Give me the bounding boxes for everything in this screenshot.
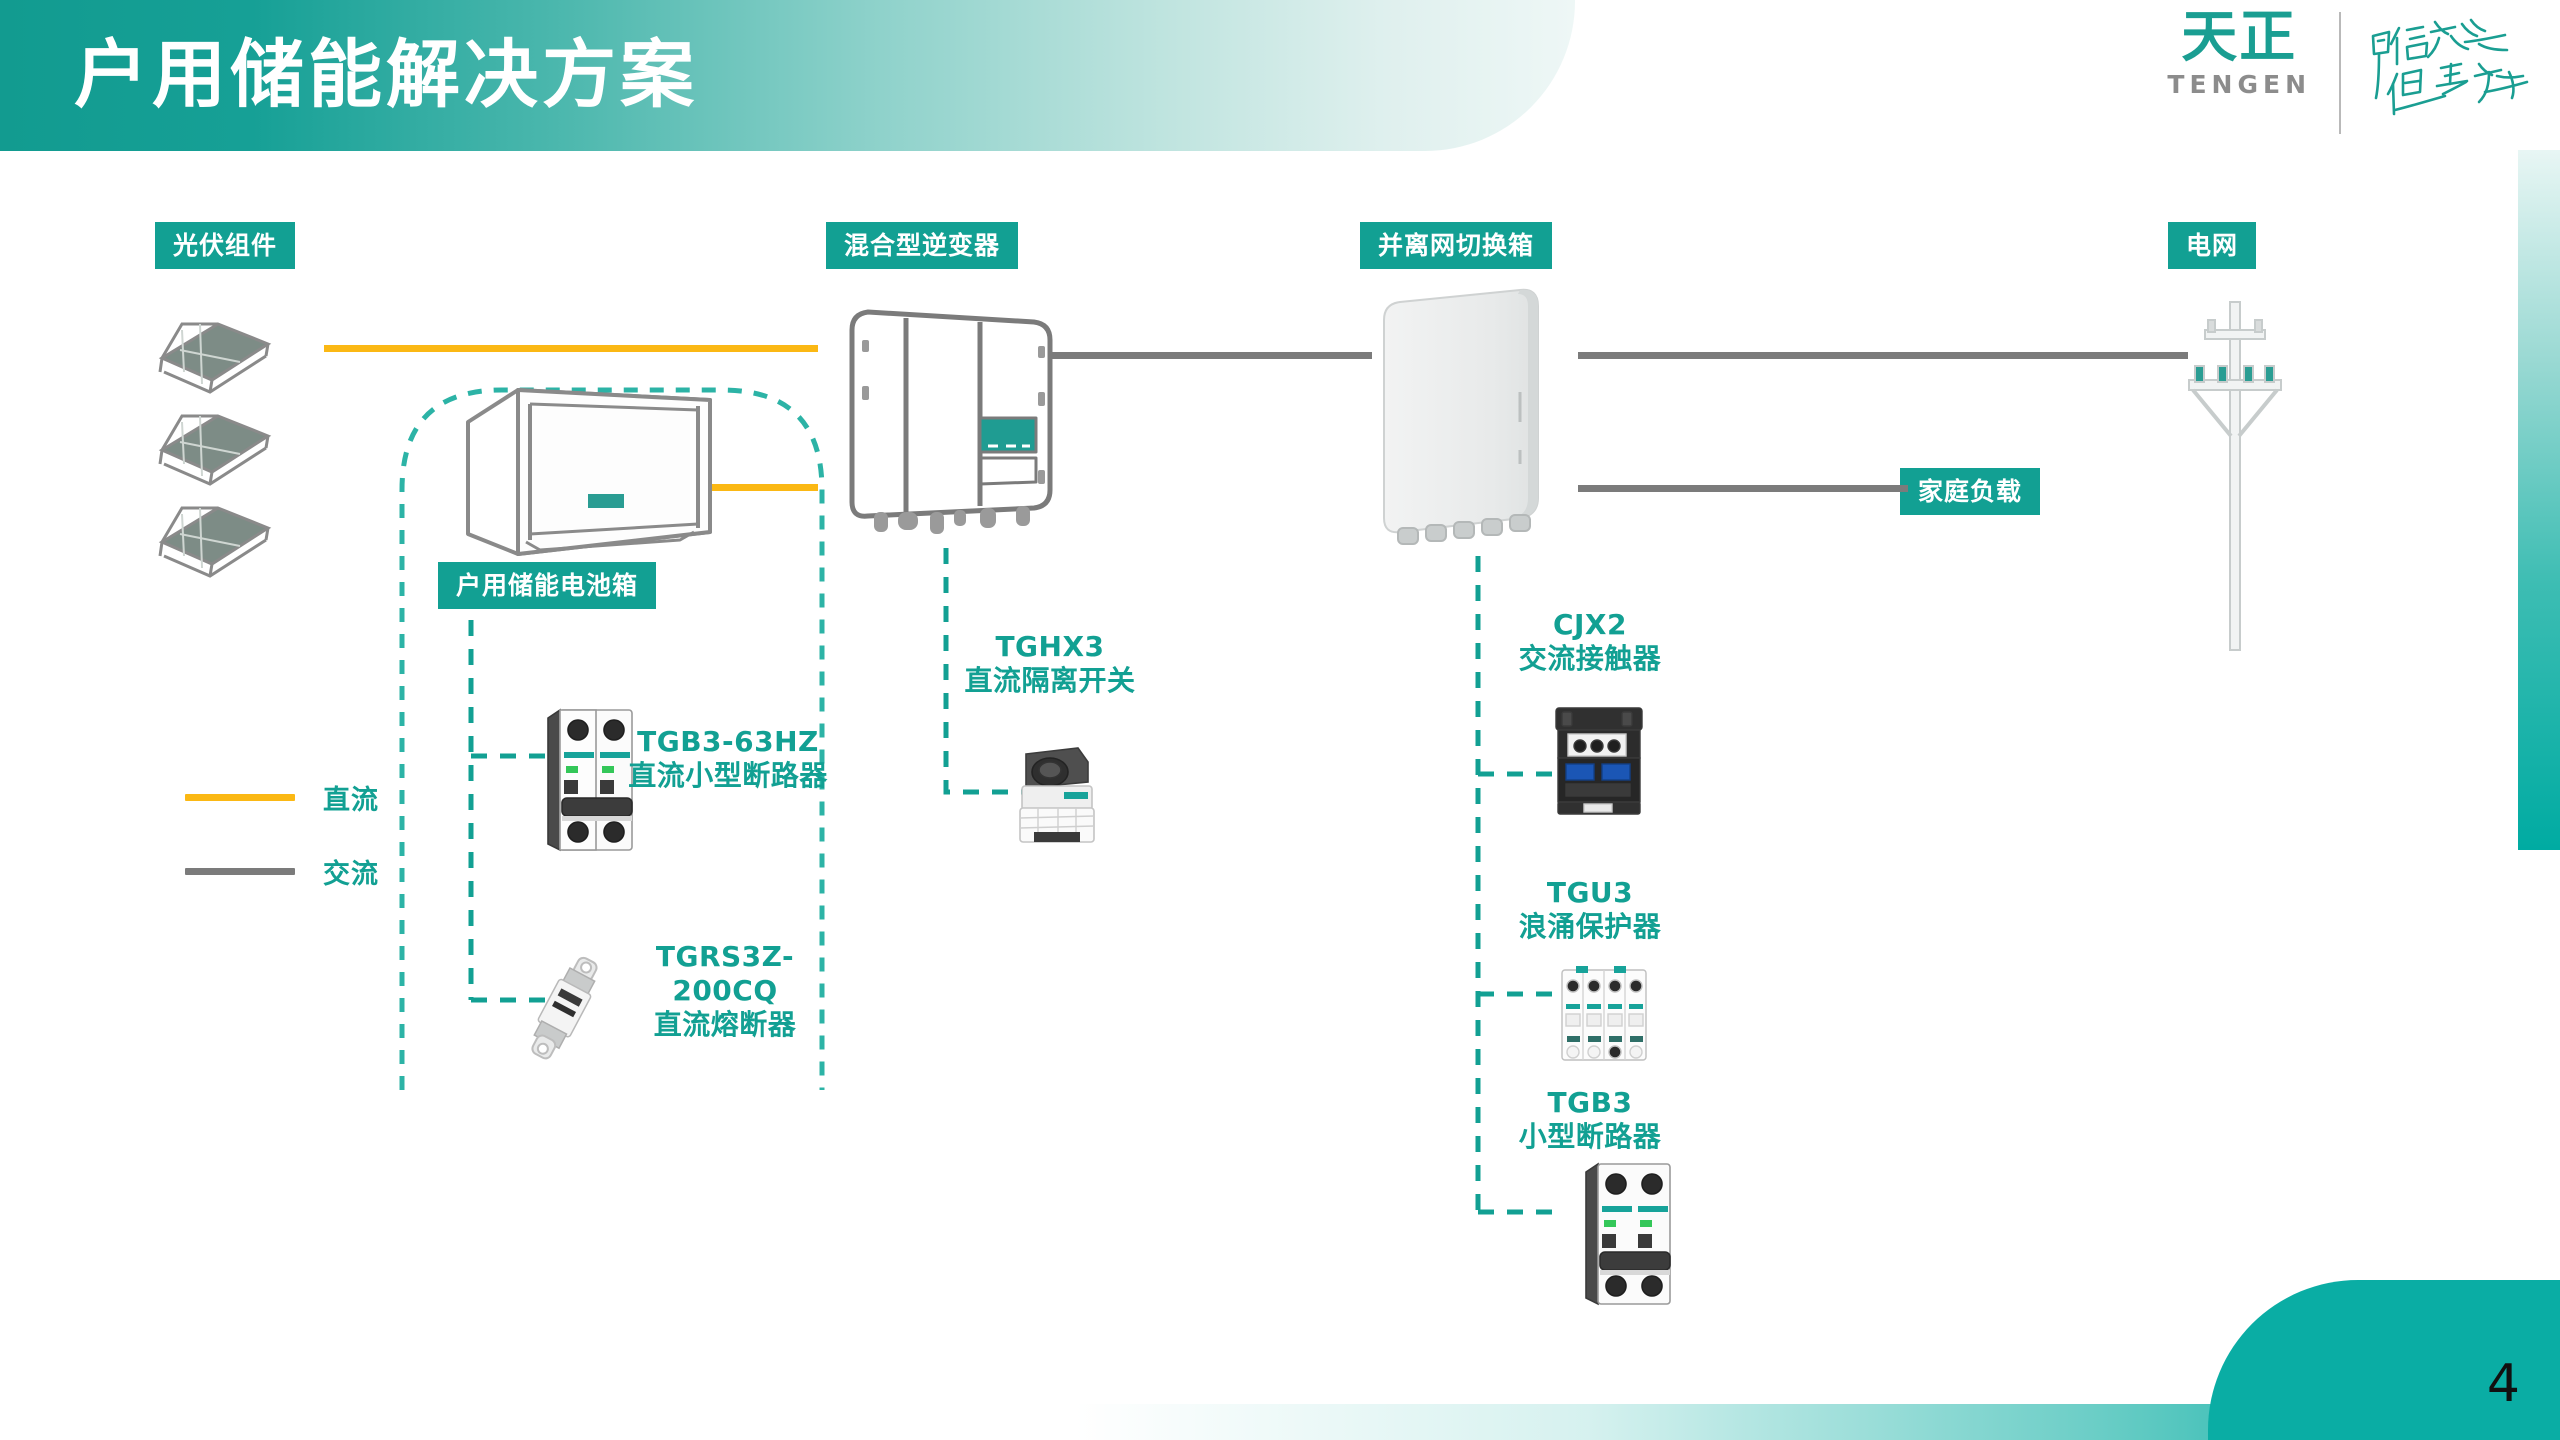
- tag-hybrid-inverter: 混合型逆变器: [826, 222, 1018, 269]
- battery-cabinet-icon: [460, 382, 720, 572]
- legend-label-ac: 交流: [323, 852, 379, 891]
- wire-ac-switchbox-to-home-load: [1578, 485, 1908, 492]
- component-name-tgrs3z-line1: TGRS3Z-: [630, 940, 820, 974]
- brand-logo: 天正 TENGEN: [2167, 8, 2542, 138]
- callout-tgrs3z-200cq: TGRS3Z- 200CQ 直流熔断器: [630, 940, 820, 1042]
- callout-tgu3: TGU3 浪涌保护器: [1470, 876, 1710, 944]
- tgb3-breaker-icon: [1576, 1154, 1686, 1314]
- component-name-tghx3: TGHX3: [930, 630, 1170, 664]
- page-title: 户用储能解决方案: [74, 23, 698, 128]
- wire-dc-pv-to-inverter: [324, 345, 818, 352]
- component-desc-cjx2: 交流接触器: [1470, 642, 1710, 676]
- component-name-tgrs3z-line2: 200CQ: [630, 974, 820, 1008]
- component-desc-tgrs3z: 直流熔断器: [630, 1008, 820, 1042]
- grid-switch-box-icon: [1370, 282, 1570, 562]
- wire-ac-switchbox-to-grid: [1578, 352, 2188, 359]
- legend: 直流 交流: [185, 760, 435, 908]
- brand-divider: [2339, 12, 2341, 134]
- component-name-tgb3: TGB3: [1470, 1086, 1710, 1120]
- legend-label-dc: 直流: [323, 778, 379, 817]
- component-name-tgu3: TGU3: [1470, 876, 1710, 910]
- page-number: 4: [2487, 1356, 2520, 1412]
- pv-panel-group: [140, 300, 320, 590]
- component-desc-tghx3: 直流隔离开关: [930, 664, 1170, 698]
- tag-switch-box: 并离网切换箱: [1360, 222, 1552, 269]
- right-accent-strip: [2518, 150, 2560, 850]
- component-desc-tgu3: 浪涌保护器: [1470, 910, 1710, 944]
- brand-slogan-calligraphy: [2367, 14, 2542, 134]
- cjx2-ac-contactor-icon: [1544, 700, 1654, 820]
- wire-ac-inverter-to-switchbox: [1052, 352, 1372, 359]
- component-name-cjx2: CJX2: [1470, 608, 1710, 642]
- logo-english-name: TENGEN: [2167, 70, 2311, 100]
- component-desc-tgb3-63hz: 直流小型断路器: [608, 759, 848, 793]
- tag-home-load: 家庭负载: [1900, 468, 2040, 515]
- tag-pv-module: 光伏组件: [155, 222, 295, 269]
- legend-swatch-dc: [185, 794, 295, 801]
- utility-pole-icon: [2175, 296, 2295, 656]
- callout-tgb3: TGB3 小型断路器: [1470, 1086, 1710, 1154]
- component-name-tgb3-63hz: TGB3-63HZ: [608, 725, 848, 759]
- logo-chinese-name: 天正: [2181, 8, 2297, 68]
- component-desc-tgb3: 小型断路器: [1470, 1120, 1710, 1154]
- tgrs3z-200cq-fuse-icon: [500, 940, 630, 1070]
- tgu3-surge-protector-icon: [1548, 960, 1658, 1070]
- callout-cjx2: CJX2 交流接触器: [1470, 608, 1710, 676]
- footer-gradient-bar: [0, 1404, 2560, 1440]
- legend-item-ac: 交流: [185, 834, 435, 908]
- tghx3-dc-isolator-icon: [1002, 738, 1112, 848]
- legend-swatch-ac: [185, 868, 295, 875]
- legend-item-dc: 直流: [185, 760, 435, 834]
- callout-tghx3: TGHX3 直流隔离开关: [930, 630, 1170, 698]
- callout-tgb3-63hz: TGB3-63HZ 直流小型断路器: [608, 725, 848, 793]
- tag-power-grid: 电网: [2168, 222, 2256, 269]
- logo-mark: 天正 TENGEN: [2167, 8, 2329, 100]
- hybrid-inverter-icon: [838, 300, 1088, 540]
